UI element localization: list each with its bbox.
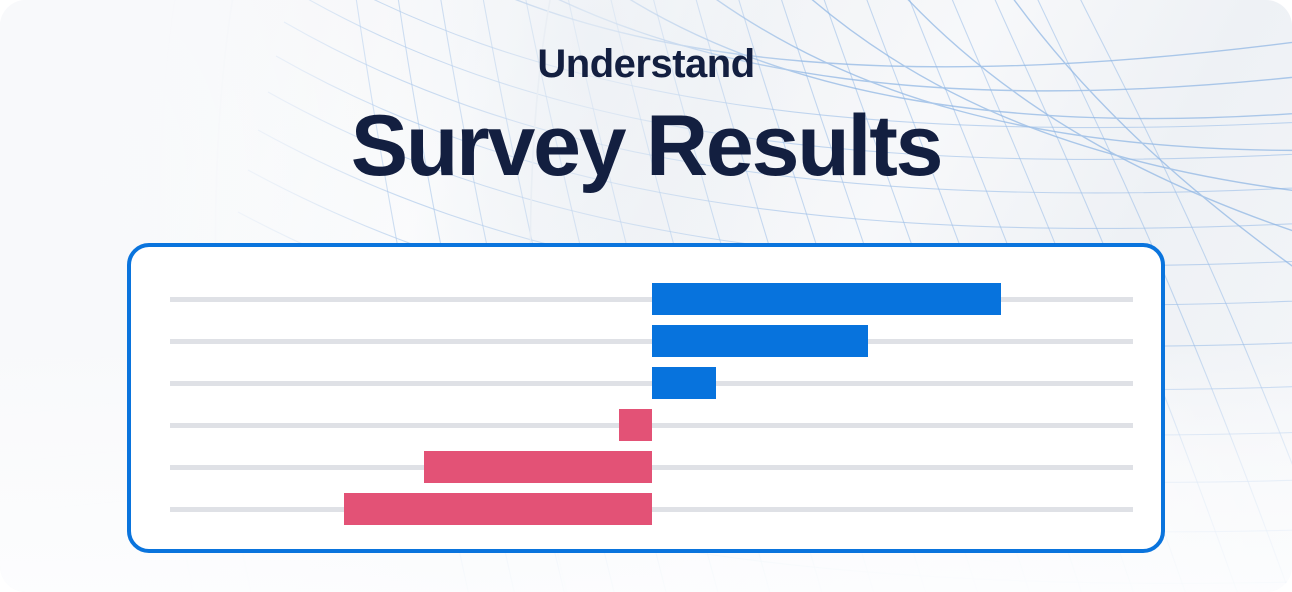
- chart-card: [127, 243, 1165, 553]
- diverging-bar-chart: [131, 247, 1169, 557]
- chart-bar-3[interactable]: [652, 367, 716, 399]
- chart-bar-6[interactable]: [344, 493, 652, 525]
- eyebrow-text: Understand: [0, 44, 1292, 84]
- page-title: Survey Results: [0, 103, 1292, 189]
- chart-bar-2[interactable]: [652, 325, 868, 357]
- chart-bar-5[interactable]: [424, 451, 652, 483]
- slide-root: Understand Survey Results: [0, 0, 1292, 592]
- chart-bar-4[interactable]: [619, 409, 652, 441]
- chart-bar-1[interactable]: [652, 283, 1001, 315]
